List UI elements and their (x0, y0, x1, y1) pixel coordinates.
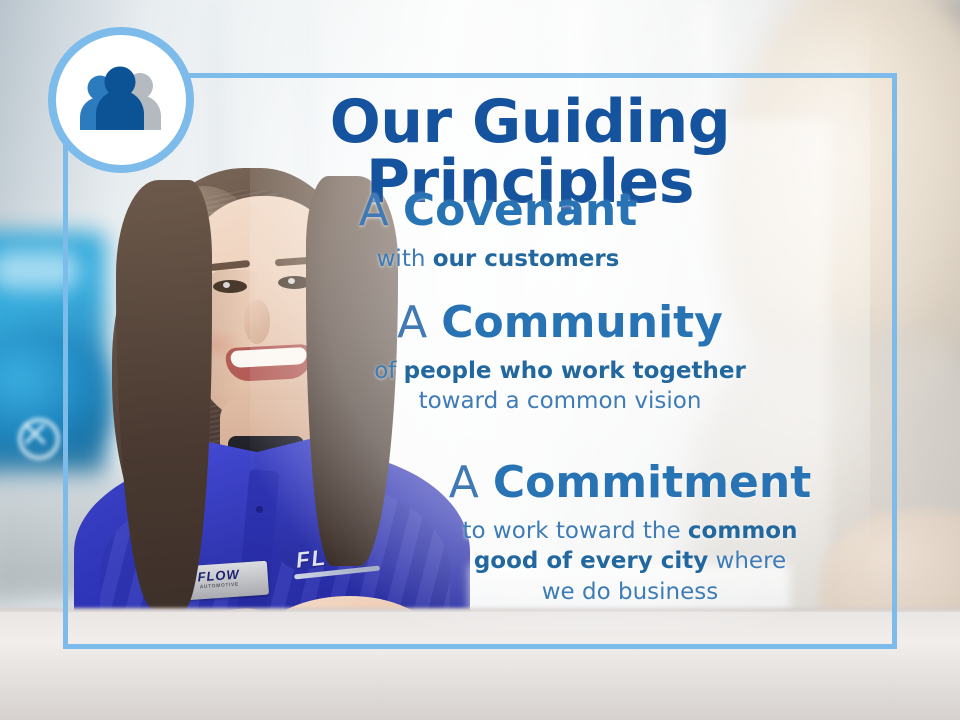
vw-logo-mark (25, 424, 45, 444)
eye-left (213, 280, 247, 293)
principle-covenant: A Covenant with our customers (268, 188, 728, 274)
principle-commitment: A Commitment to work toward the commongo… (370, 460, 890, 608)
principle-covenant-heading: A Covenant (268, 188, 728, 235)
principle-commitment-body: to work toward the commongood of every c… (370, 516, 890, 608)
principle-community-heading: A Community (310, 300, 810, 347)
principle-covenant-body: with our customers (268, 244, 728, 275)
promo-graphic: FLOW FLOW AUTOMOTIVE (0, 0, 960, 720)
principle-community: A Community of people who work togethert… (310, 300, 810, 417)
eye-highlight-left (223, 282, 230, 288)
principle-commitment-heading: A Commitment (370, 460, 890, 507)
people-group-icon (71, 65, 171, 135)
people-group-badge (48, 27, 194, 173)
principle-community-body: of people who work togethertoward a comm… (310, 356, 810, 418)
